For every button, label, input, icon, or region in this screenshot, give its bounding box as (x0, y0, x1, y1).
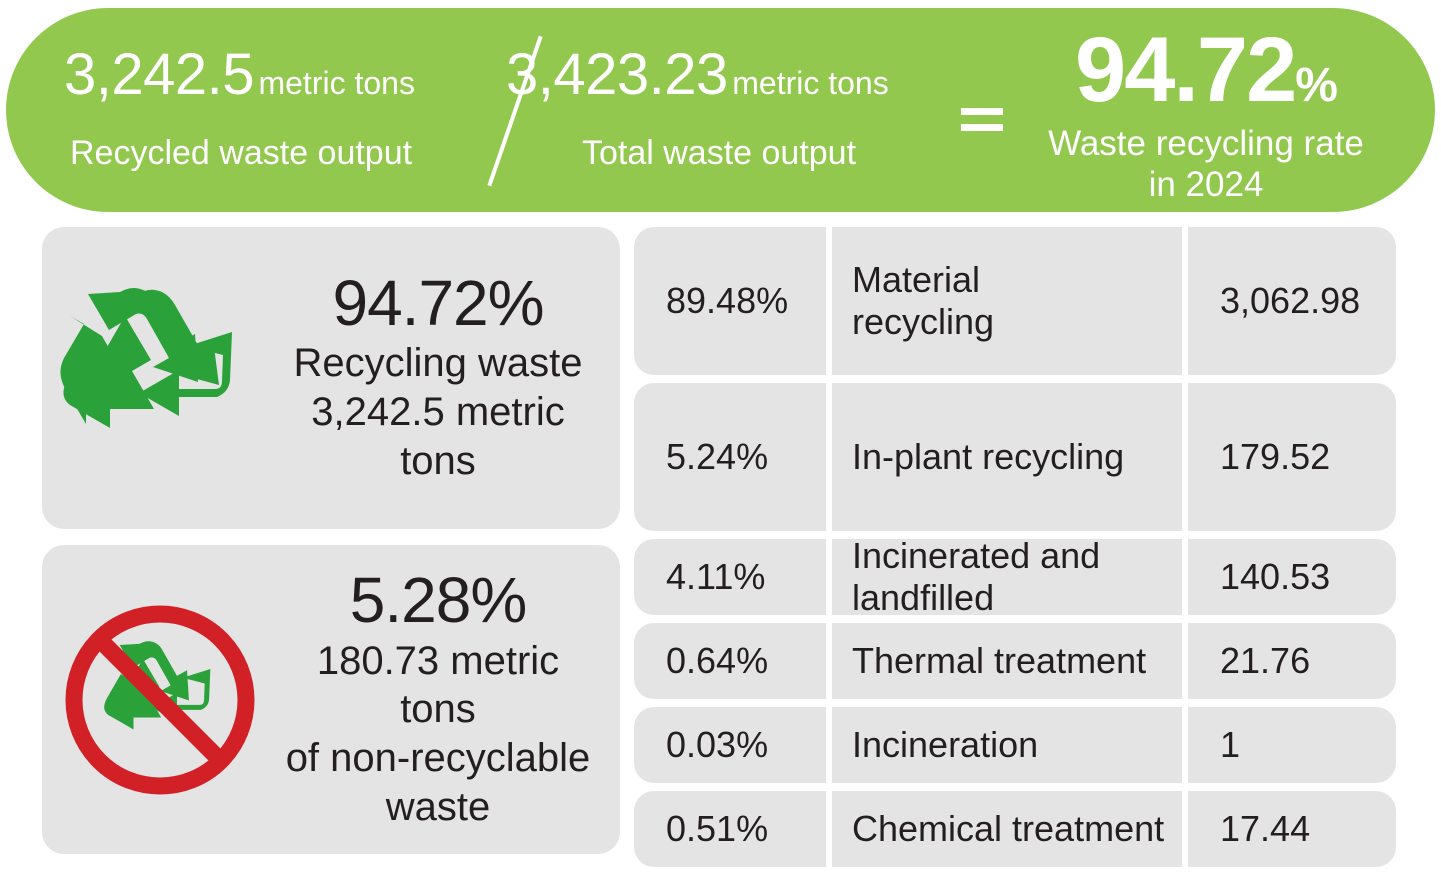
no-recycling-symbol-icon (42, 600, 278, 800)
recycled-waste-card: 94.72% Recycling waste 3,242.5 metric to… (42, 227, 620, 529)
table-row: 5.24% In-plant recycling 179.52 (634, 383, 1396, 531)
equals-sign-icon (961, 108, 1003, 134)
row-percent: 89.48% (634, 227, 826, 375)
row-name: Chemical treatment (832, 791, 1182, 867)
total-output-label: Total waste output (506, 134, 966, 173)
total-output-figure: 3,423.23 metric tons (506, 46, 966, 104)
recycled-output-value: 3,242.5 (64, 42, 254, 107)
non-recyclable-desc-line3: waste (278, 783, 598, 832)
recycled-waste-description: Recycling waste 3,242.5 metric tons (278, 339, 598, 485)
recycling-rate-value: 94.72 (1075, 19, 1295, 121)
row-percent: 0.64% (634, 623, 826, 699)
recycling-rate-label-line2: in 2024 (1006, 165, 1406, 206)
row-value: 1 (1188, 707, 1396, 783)
row-name: Thermal treatment (832, 623, 1182, 699)
total-output-value: 3,423.23 (506, 42, 728, 107)
non-recyclable-waste-description: 180.73 metric tons of non-recyclable was… (278, 637, 598, 832)
waste-breakdown-table: 89.48% Material recycling 3,062.98 5.24%… (634, 227, 1396, 875)
row-name: Incineration (832, 707, 1182, 783)
recycled-output-label: Recycled waste output (56, 134, 486, 173)
row-value: 17.44 (1188, 791, 1396, 867)
recycling-symbol-icon (42, 286, 278, 470)
row-value: 3,062.98 (1188, 227, 1396, 375)
recycling-rate-label-line1: Waste recycling rate (1006, 124, 1406, 165)
recycled-output-group: 3,242.5 metric tons Recycled waste outpu… (56, 46, 486, 173)
row-name-line1: Material (852, 259, 994, 301)
non-recyclable-desc-line2: of non-recyclable (278, 734, 598, 783)
row-percent: 0.51% (634, 791, 826, 867)
row-percent: 4.11% (634, 539, 826, 615)
table-row: 89.48% Material recycling 3,062.98 (634, 227, 1396, 375)
row-value: 21.76 (1188, 623, 1396, 699)
non-recyclable-waste-card: 5.28% 180.73 metric tons of non-recyclab… (42, 545, 620, 854)
recycled-waste-desc-line2: 3,242.5 metric (278, 388, 598, 437)
waste-recycling-rate-banner: 3,242.5 metric tons Recycled waste outpu… (6, 8, 1435, 212)
total-output-unit: metric tons (732, 65, 888, 101)
total-output-group: 3,423.23 metric tons Total waste output (506, 46, 966, 173)
recycled-waste-percent: 94.72% (278, 270, 598, 337)
row-name: In-plant recycling (832, 383, 1182, 531)
non-recyclable-waste-text: 5.28% 180.73 metric tons of non-recyclab… (278, 567, 620, 831)
table-row: 0.03% Incineration 1 (634, 707, 1396, 783)
recycled-waste-text: 94.72% Recycling waste 3,242.5 metric to… (278, 270, 620, 486)
row-value: 179.52 (1188, 383, 1396, 531)
row-name-line2: recycling (852, 301, 994, 343)
recycling-rate-percent-symbol: % (1295, 59, 1337, 112)
recycling-rate-figure: 94.72% (1006, 24, 1406, 116)
recycled-waste-desc-line1: Recycling waste (278, 339, 598, 388)
recycled-output-figure: 3,242.5 metric tons (56, 46, 486, 104)
non-recyclable-desc-line1: 180.73 metric tons (278, 637, 598, 735)
recycling-rate-group: 94.72% Waste recycling rate in 2024 (1006, 24, 1406, 205)
table-row: 0.64% Thermal treatment 21.76 (634, 623, 1396, 699)
row-value: 140.53 (1188, 539, 1396, 615)
row-percent: 0.03% (634, 707, 826, 783)
recycled-output-unit: metric tons (258, 65, 414, 101)
non-recyclable-waste-percent: 5.28% (278, 567, 598, 634)
row-percent: 5.24% (634, 383, 826, 531)
table-row: 0.51% Chemical treatment 17.44 (634, 791, 1396, 867)
row-name: Incinerated and landfilled (832, 539, 1182, 615)
row-name: Material recycling (832, 227, 1182, 375)
table-row: 4.11% Incinerated and landfilled 140.53 (634, 539, 1396, 615)
recycling-rate-label: Waste recycling rate in 2024 (1006, 124, 1406, 205)
recycled-waste-desc-line3: tons (278, 437, 598, 486)
